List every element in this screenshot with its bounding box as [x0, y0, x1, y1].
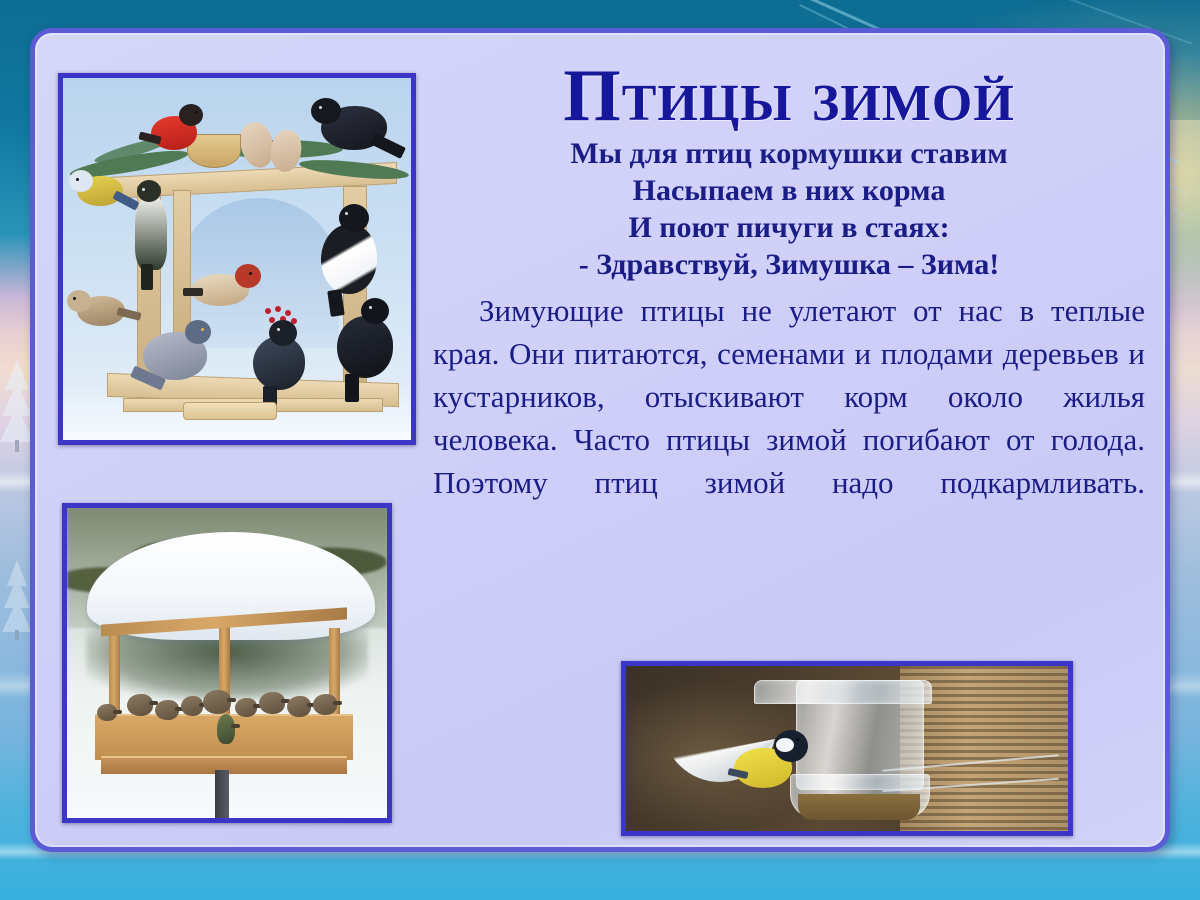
sparrow-icon: [217, 714, 235, 744]
great-tit-icon: [730, 728, 826, 796]
illustration-birds-at-wooden-feeder: [63, 78, 411, 440]
poem-line-2: Насыпаем в них корма: [433, 172, 1145, 209]
poem-line-4: - Здравствуй, Зимушка – Зима!: [433, 246, 1145, 283]
sparrow-icon: [287, 696, 311, 717]
text-column: Птицы зимой Мы для птиц кормушки ставим …: [433, 57, 1145, 547]
image-frame-snow-feeder: [62, 503, 392, 823]
poem-line-3: И поют пичуги в стаях:: [433, 209, 1145, 246]
sparrow-icon: [155, 700, 179, 720]
sparrow-icon: [259, 692, 285, 714]
photo-great-tit-at-bottle-feeder: [626, 666, 1068, 831]
pine-tree-icon: [2, 360, 32, 450]
image-frame-birds-illustration: [58, 73, 416, 445]
goldfinch-icon: [187, 260, 273, 316]
sparrow-icon: [67, 284, 141, 338]
page-title: Птицы зимой: [433, 57, 1145, 135]
content-panel: Птицы зимой Мы для птиц кормушки ставим …: [30, 28, 1170, 852]
slide: Птицы зимой Мы для птиц кормушки ставим …: [0, 0, 1200, 900]
pigeon-icon: [137, 316, 233, 410]
sparrow-icon: [97, 704, 117, 721]
sparrow-icon: [235, 698, 257, 717]
body-paragraph: Зимующие птицы не улетают от нас в теплы…: [433, 289, 1145, 547]
rook-icon: [327, 294, 411, 406]
pine-tree-icon: [4, 560, 30, 638]
woodpecker-icon: [127, 178, 177, 296]
sparrow-icon: [127, 694, 153, 716]
sparrow-icon: [203, 690, 231, 714]
crow-icon: [307, 88, 403, 174]
photo-snow-covered-feeder-with-sparrows: [67, 508, 387, 818]
sparrow-icon: [313, 694, 337, 715]
bullfinch-icon: [145, 100, 207, 158]
poem-line-1: Мы для птиц кормушки ставим: [433, 135, 1145, 172]
sparrow-icon: [181, 696, 203, 716]
image-frame-tit-bottle-feeder: [621, 661, 1073, 836]
